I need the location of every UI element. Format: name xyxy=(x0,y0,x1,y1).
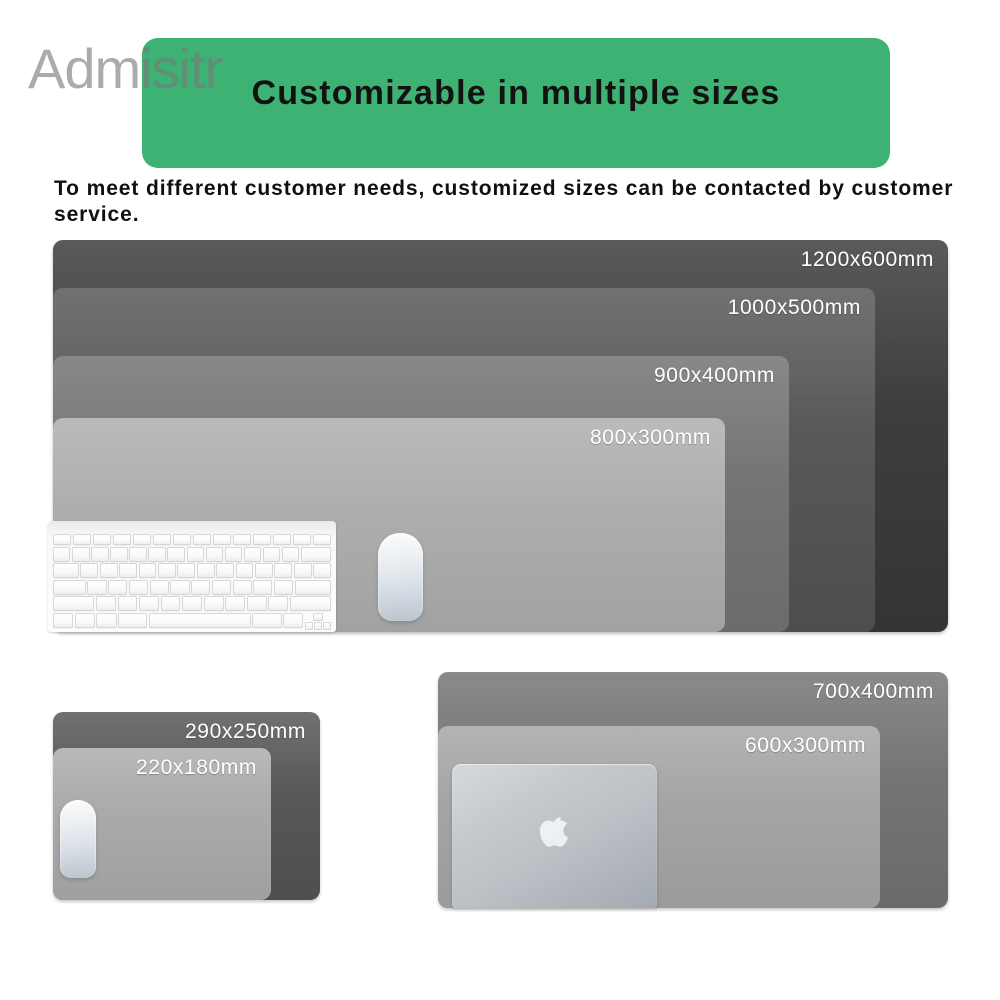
pad-label-800x300: 800x300mm xyxy=(590,426,711,450)
key-shift-left xyxy=(53,596,94,611)
keyboard-row-home xyxy=(51,580,333,595)
key xyxy=(110,547,127,562)
key-arrow-right xyxy=(323,622,331,630)
key xyxy=(193,534,211,545)
key-arrow-cluster xyxy=(305,613,331,630)
magic-mouse xyxy=(378,533,423,621)
key-option-left xyxy=(96,613,116,628)
key-caps-lock xyxy=(53,580,86,595)
key xyxy=(282,547,299,562)
key xyxy=(108,580,127,595)
key xyxy=(182,596,202,611)
key xyxy=(72,547,89,562)
key xyxy=(93,534,111,545)
pad-label-700x400: 700x400mm xyxy=(813,680,934,704)
pad-label-220x180: 220x180mm xyxy=(136,756,257,780)
key xyxy=(293,534,311,545)
key xyxy=(216,563,234,578)
key xyxy=(197,563,215,578)
key xyxy=(139,596,159,611)
key xyxy=(173,534,191,545)
key xyxy=(133,534,151,545)
key xyxy=(268,596,288,611)
key xyxy=(129,580,148,595)
keyboard-row-top xyxy=(51,563,333,578)
key xyxy=(225,547,242,562)
key xyxy=(87,580,106,595)
key-command-left xyxy=(118,613,147,628)
key-control xyxy=(75,613,95,628)
key xyxy=(161,596,181,611)
macbook-laptop xyxy=(452,764,657,908)
key xyxy=(167,547,184,562)
pad-label-1200x600: 1200x600mm xyxy=(801,248,934,272)
key xyxy=(153,534,171,545)
key xyxy=(150,580,169,595)
key xyxy=(139,563,157,578)
key-delete xyxy=(301,547,331,562)
key xyxy=(96,596,116,611)
key-command-right xyxy=(252,613,281,628)
key xyxy=(118,596,138,611)
apple-keyboard xyxy=(48,521,336,632)
key xyxy=(244,547,261,562)
key-arrow-down xyxy=(314,622,322,630)
key xyxy=(73,534,91,545)
key xyxy=(113,534,131,545)
magic-mouse xyxy=(60,800,96,878)
key xyxy=(80,563,98,578)
key xyxy=(313,563,331,578)
key xyxy=(204,596,224,611)
headline-text: Customizable in multiple sizes xyxy=(142,74,890,113)
key xyxy=(253,534,271,545)
key-arrow-up xyxy=(313,613,323,621)
subtitle-text: To meet different customer needs, custom… xyxy=(54,176,954,229)
key xyxy=(206,547,223,562)
key-arrow-row xyxy=(305,622,331,630)
key xyxy=(233,534,251,545)
key-fn xyxy=(53,613,73,628)
key xyxy=(255,563,273,578)
key xyxy=(274,580,293,595)
key xyxy=(247,596,267,611)
keyboard-row-number xyxy=(51,547,333,562)
key-space xyxy=(149,613,251,628)
key-shift-right xyxy=(290,596,331,611)
key xyxy=(148,547,165,562)
key xyxy=(187,547,204,562)
key xyxy=(129,547,146,562)
keyboard-row-modifier xyxy=(51,613,333,630)
key-option-right xyxy=(283,613,303,628)
key xyxy=(119,563,137,578)
key xyxy=(91,547,108,562)
key xyxy=(212,580,231,595)
apple-logo-icon xyxy=(540,814,570,850)
key xyxy=(177,563,195,578)
headline-banner: Customizable in multiple sizes xyxy=(142,38,890,168)
key xyxy=(53,547,70,562)
key xyxy=(273,534,291,545)
pad-label-1000x500: 1000x500mm xyxy=(728,296,861,320)
key xyxy=(274,563,292,578)
key xyxy=(236,563,254,578)
key xyxy=(53,534,71,545)
pad-label-900x400: 900x400mm xyxy=(654,364,775,388)
pad-label-600x300: 600x300mm xyxy=(745,734,866,758)
key xyxy=(225,596,245,611)
key xyxy=(170,580,189,595)
key xyxy=(191,580,210,595)
key xyxy=(213,534,231,545)
key xyxy=(313,534,331,545)
key xyxy=(253,580,272,595)
key xyxy=(263,547,280,562)
key xyxy=(294,563,312,578)
key-tab xyxy=(53,563,79,578)
keyboard-row-function xyxy=(51,534,333,545)
key xyxy=(158,563,176,578)
pad-label-290x250: 290x250mm xyxy=(185,720,306,744)
key xyxy=(100,563,118,578)
key-return xyxy=(295,580,331,595)
key-arrow-left xyxy=(305,622,313,630)
keyboard-row-bottom xyxy=(51,596,333,611)
key xyxy=(233,580,252,595)
